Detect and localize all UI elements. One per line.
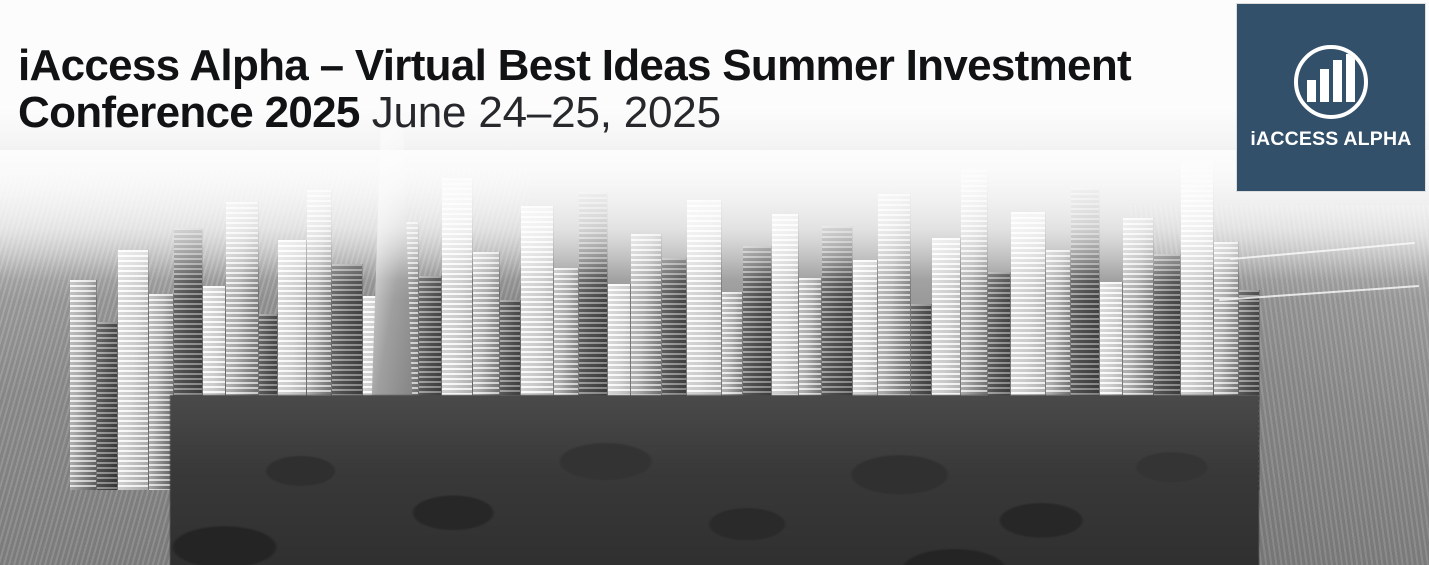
conference-banner: iAccess Alpha – Virtual Best Ideas Summe… xyxy=(0,0,1429,565)
title-line-1: iAccess Alpha – Virtual Best Ideas Summe… xyxy=(18,42,1131,89)
battery-park-trees xyxy=(170,395,1259,565)
title-bold-part: Conference 2025 xyxy=(18,88,360,137)
logo-bar-2 xyxy=(1320,69,1329,102)
iaccess-alpha-logo[interactable]: iACCESS ALPHA xyxy=(1236,3,1426,192)
horizon-haze xyxy=(0,150,1429,280)
conference-dates xyxy=(360,88,372,137)
page-title: iAccess Alpha – Virtual Best Ideas Summe… xyxy=(18,42,1131,136)
logo-wordmark: iACCESS ALPHA xyxy=(1250,128,1411,151)
logo-bar-1 xyxy=(1307,80,1316,102)
conference-dates-text: June 24–25, 2025 xyxy=(372,88,721,137)
logo-bar-3 xyxy=(1333,60,1342,102)
logo-bar-4 xyxy=(1346,54,1355,102)
bar-chart-circle-icon xyxy=(1294,45,1368,119)
title-line-2: Conference 2025 June 24–25, 2025 xyxy=(18,89,1131,136)
